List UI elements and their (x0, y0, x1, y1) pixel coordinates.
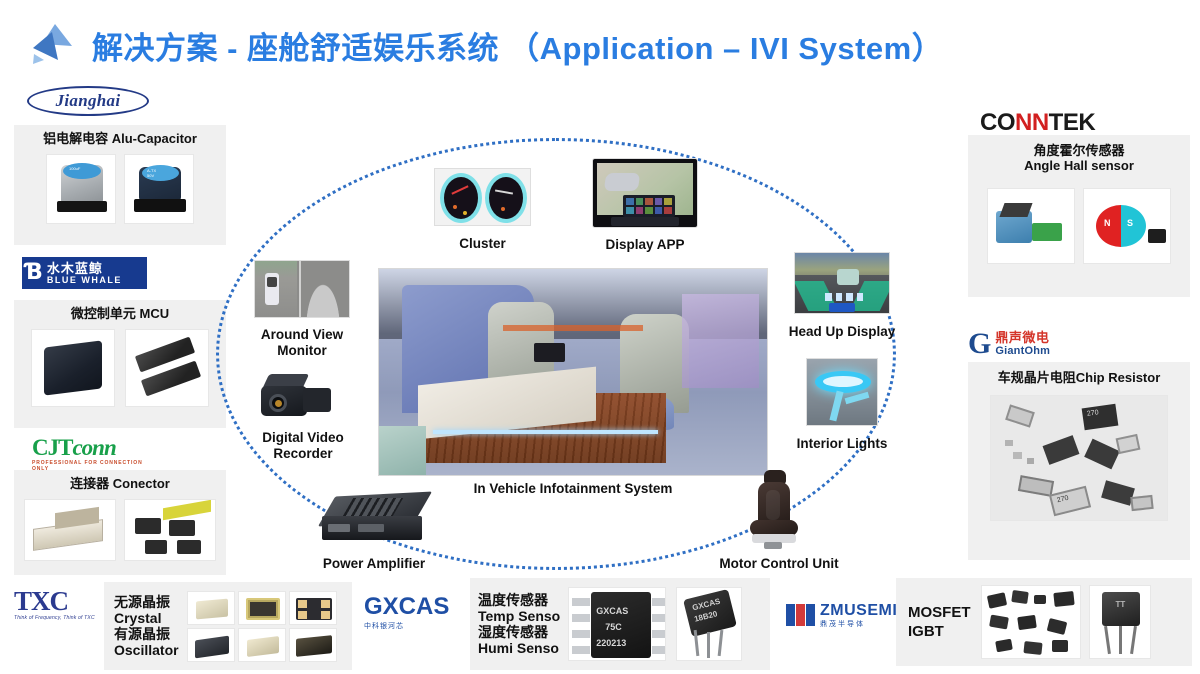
oscillator-smd-2 (238, 628, 286, 662)
car-interior-cabin-photo (378, 268, 768, 476)
panel-mosfet-igbt: MOSFET IGBT TT (896, 578, 1192, 666)
node-power-amplifier: Power Amplifier (314, 490, 434, 572)
panel-alu-capacitor: 铝电解电容 Alu-Capacitor 100uF A-TX50V (14, 125, 226, 245)
conntek-logo: CONNTEK (980, 108, 1110, 138)
conntek-logo-part-c: TEK (1049, 109, 1096, 136)
jianghai-logo: Jianghai (27, 86, 149, 116)
node-motor-control-unit-label: Motor Control Unit (704, 556, 854, 572)
zmusemi-logo-cn: 鼎茂半导体 (820, 621, 897, 628)
triangle-arrow-logo-icon (22, 20, 82, 70)
hud-road-projection-photo (794, 252, 890, 314)
gxcas-logo-sub: 中科银河芯 (364, 621, 404, 631)
center-display-tablet-photo (592, 158, 698, 228)
mosfet-smd-group (981, 585, 1081, 659)
car-seat-photo (742, 468, 816, 552)
connector-housing-photo (24, 499, 116, 561)
node-digital-video-recorder-label: Digital Video Recorder (253, 430, 353, 462)
blue-whale-logo-en: BLUE WHALE (47, 276, 122, 285)
panel-chip-resistor-title: 车规晶片电阻Chip Resistor (968, 362, 1190, 389)
node-cluster: Cluster (434, 168, 531, 252)
cjt-logo-main: CJT (32, 435, 72, 460)
node-around-view-monitor: Around View Monitor (254, 260, 350, 359)
panel-angle-hall-title-cn: 角度霍尔传感器 (972, 143, 1186, 158)
node-around-view-monitor-label: Around View Monitor (254, 327, 350, 359)
blue-whale-glyph-icon: Ɓ (25, 262, 43, 284)
slide-canvas: 解决方案 - 座舱舒适娱乐系统 （Application – IVI Syste… (0, 0, 1200, 674)
node-interior-lights-label: Interior Lights (782, 436, 902, 452)
panel-connector: 连接器 Conector (14, 470, 226, 575)
slide-header: 解决方案 - 座舱舒适娱乐系统 （Application – IVI Syste… (0, 14, 1200, 76)
oscillator-smd-1 (187, 628, 235, 662)
gxcas-to92-chip: GXCAS 18B20 (676, 587, 742, 661)
panel-chip-resistor: 车规晶片电阻Chip Resistor 270 270 (968, 362, 1190, 560)
power-amplifier-box-photo (314, 490, 434, 552)
center-label-ivi: In Vehicle Infotainment System (378, 481, 768, 497)
cjt-conn-logo: CJTconn PROFESSIONAL FOR CONNECTION ONLY (32, 437, 152, 471)
txc-logo-main: TXC (14, 589, 114, 615)
txc-logo: TXC Think of Frequency, Think of TXC (14, 588, 114, 622)
panel-connector-title: 连接器 Conector (14, 470, 226, 495)
magnet-ns-photo: N S (1083, 188, 1171, 264)
node-display-app-label: Display APP (592, 237, 698, 253)
crystal-smd-3 (289, 591, 337, 625)
cjt-logo-italic: conn (72, 435, 115, 460)
around-view-camera-photo (254, 260, 350, 318)
panel-mosfet-igbt-labels: MOSFET IGBT (896, 603, 971, 642)
panel-crystal-oscillator-labels: 无源晶振 Crystal 有源晶振 Oscillator (104, 594, 179, 659)
node-power-amplifier-label: Power Amplifier (314, 556, 434, 572)
alu-capacitor-blue-photo: A-TX50V (124, 154, 194, 224)
instrument-cluster-gauges-photo (434, 168, 531, 226)
panel-crystal-oscillator: 无源晶振 Crystal 有源晶振 Oscillator (104, 582, 352, 670)
node-display-app: Display APP (592, 158, 698, 253)
node-motor-control-unit: Motor Control Unit (742, 468, 854, 572)
gxcas-logo: GXCAS 中科银河芯 (364, 594, 482, 632)
page-title: 解决方案 - 座舱舒适娱乐系统 （Application – IVI Syste… (92, 23, 943, 68)
conntek-logo-part-a: CO (980, 109, 1015, 136)
crystal-smd-1 (187, 591, 235, 625)
node-head-up-display: Head Up Display (794, 252, 902, 340)
panel-temp-humi-labels: 温度传感器 Temp Senso 湿度传感器 Humi Senso (470, 592, 560, 657)
panel-mcu-title: 微控制单元 MCU (14, 300, 226, 325)
node-digital-video-recorder: Digital Video Recorder (253, 370, 353, 462)
node-interior-lights: Interior Lights (806, 358, 902, 452)
connector-black-photo (124, 499, 216, 561)
panel-alu-capacitor-title: 铝电解电容 Alu-Capacitor (14, 125, 226, 150)
panel-temp-humi-sensor: 温度传感器 Temp Senso 湿度传感器 Humi Senso GXCAS … (470, 578, 770, 670)
node-head-up-display-label: Head Up Display (782, 324, 902, 340)
mcu-ic-photo (125, 329, 209, 407)
igbt-to247-photo: TT (1089, 585, 1151, 659)
jianghai-logo-text: Jianghai (56, 91, 121, 111)
zmusemi-mark-icon (786, 604, 815, 626)
blue-whale-logo: Ɓ 水木蓝鲸 BLUE WHALE (22, 257, 147, 289)
conntek-logo-part-b: NN (1015, 109, 1049, 136)
txc-logo-sub: Think of Frequency, Think of TXC (14, 615, 114, 621)
panel-angle-hall-title-en: Angle Hall sensor (972, 158, 1186, 173)
giantohm-logo-en: GiantOhm (995, 346, 1050, 357)
chip-resistor-pile-photo: 270 270 (990, 395, 1168, 521)
panel-angle-hall-sensor: 角度霍尔传感器 Angle Hall sensor N S (968, 135, 1190, 297)
giantohm-logo: G 鼎声微电 GiantOhm (968, 326, 1093, 362)
crystal-smd-2 (238, 591, 286, 625)
gxcas-logo-main: GXCAS (364, 595, 449, 619)
dashcam-photo (253, 370, 341, 424)
gxcas-soic-chip: GXCAS 75C 220213 (568, 587, 666, 661)
blue-whale-logo-cn: 水木蓝鲸 (47, 262, 122, 275)
node-cluster-label: Cluster (434, 236, 531, 252)
giantohm-logo-cn: 鼎声微电 (995, 331, 1050, 344)
hall-motor-photo (987, 188, 1075, 264)
alu-capacitor-silver-photo: 100uF (46, 154, 116, 224)
oscillator-smd-3 (289, 628, 337, 662)
giantohm-g-icon: G (968, 329, 991, 359)
panel-mcu: 微控制单元 MCU (14, 300, 226, 428)
interior-dome-light-photo (806, 358, 878, 426)
zmusemi-logo-en: ZMUSEMI (820, 603, 897, 619)
mcu-package-photo (31, 329, 115, 407)
